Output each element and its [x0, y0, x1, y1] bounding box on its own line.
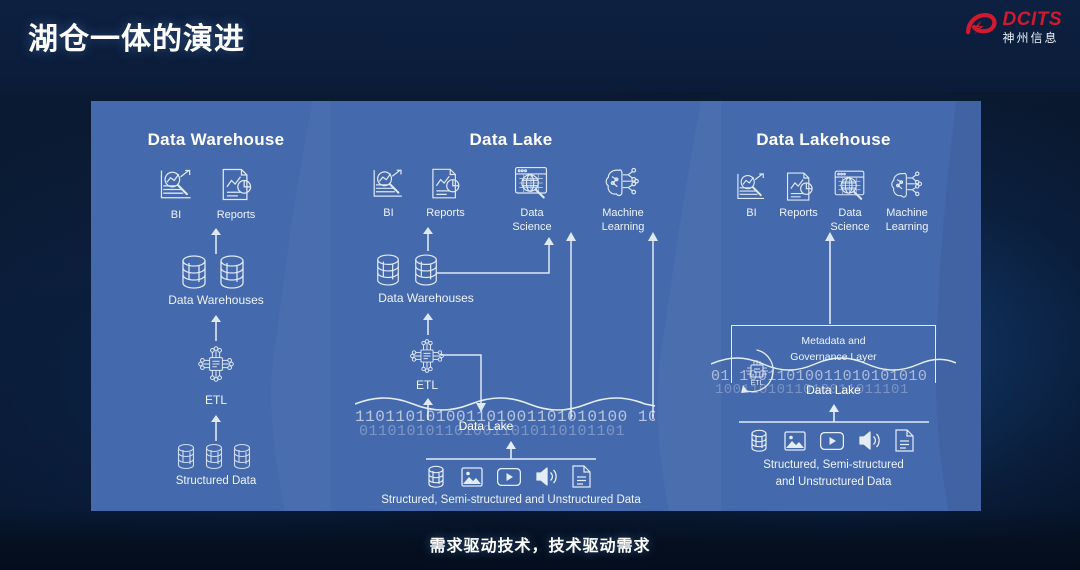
- database-cylinder-icon: [374, 253, 402, 287]
- database-cylinder-icon: [204, 443, 224, 471]
- consumer-label: Reports: [408, 207, 483, 221]
- flow-arrow-up: [421, 311, 435, 335]
- machine-learning-brain-icon: [601, 163, 641, 203]
- brand-logo: DCITS 神州信息: [963, 10, 1063, 44]
- logo-wordmark-en: DCITS: [1003, 10, 1063, 29]
- database-cylinder-icon: [217, 254, 247, 290]
- database-cylinder-icon: [176, 443, 196, 471]
- consumer-label: Machine Learning: [871, 207, 943, 235]
- reports-document-chart-icon: [781, 169, 817, 205]
- diagram-panel: Data Warehouse BI Report: [91, 101, 981, 511]
- database-icon: [749, 429, 769, 453]
- machine-learning-brain-icon: [887, 167, 924, 204]
- flow-arrow-up: [564, 229, 578, 419]
- source-bus-line: [426, 441, 596, 463]
- logo-wordmark-cn: 神州信息: [1003, 32, 1063, 44]
- flow-arrow-up: [209, 226, 223, 254]
- source-bus-line: [739, 404, 929, 426]
- storage-label: Data Warehouses: [131, 293, 301, 308]
- audio-icon: [535, 466, 559, 487]
- column-data-warehouse: Data Warehouse BI Report: [91, 101, 341, 511]
- image-icon: [784, 431, 806, 451]
- dcits-swoosh-icon: [963, 10, 997, 44]
- data-science-globe-magnifier-icon: [511, 163, 551, 203]
- bi-chart-magnifier-icon: [156, 165, 196, 205]
- column-data-lakehouse: Data Lakehouse BI Reports: [691, 101, 981, 511]
- lake-label: Data Lake: [761, 383, 906, 398]
- reports-document-chart-icon: [426, 165, 464, 203]
- image-icon: [461, 467, 483, 487]
- flow-connector-elbow: [436, 231, 561, 281]
- source-label: Structured, Semi-structured and Unstruct…: [701, 457, 966, 492]
- database-icon: [426, 465, 446, 489]
- column-title: Data Warehouse: [91, 130, 341, 150]
- flow-arrow-up: [823, 229, 837, 324]
- bi-chart-magnifier-icon: [369, 165, 407, 203]
- storage-label: Data Warehouses: [341, 291, 511, 306]
- consumer-label: Reports: [196, 209, 276, 223]
- page-title: 湖仓一体的演进: [28, 14, 245, 58]
- document-icon: [895, 429, 914, 452]
- flow-arrow-up: [209, 313, 223, 341]
- data-science-globe-magnifier-icon: [831, 167, 868, 204]
- flow-arrow-up: [421, 225, 435, 251]
- lake-label: Data Lake: [416, 419, 556, 434]
- source-label: Structured Data: [136, 474, 296, 488]
- flow-arrow-up: [646, 229, 660, 419]
- flow-arrow-up: [209, 413, 223, 441]
- audio-icon: [858, 430, 882, 451]
- column-title: Data Lakehouse: [691, 130, 956, 150]
- slide-caption: 需求驱动技术，技术驱动需求: [0, 532, 1080, 556]
- source-label: Structured, Semi-structured and Unstruct…: [341, 493, 681, 507]
- video-icon: [820, 432, 844, 450]
- etl-chip-icon: [196, 344, 236, 384]
- database-cylinder-icon: [179, 254, 209, 290]
- database-cylinder-icon: [232, 443, 252, 471]
- document-icon: [572, 465, 591, 488]
- bi-chart-magnifier-icon: [733, 169, 769, 205]
- column-data-lake: Data Lake BI Reports: [341, 101, 681, 511]
- video-icon: [497, 468, 521, 486]
- column-title: Data Lake: [341, 130, 681, 150]
- reports-document-chart-icon: [216, 165, 256, 205]
- etl-label: ETL: [176, 393, 256, 408]
